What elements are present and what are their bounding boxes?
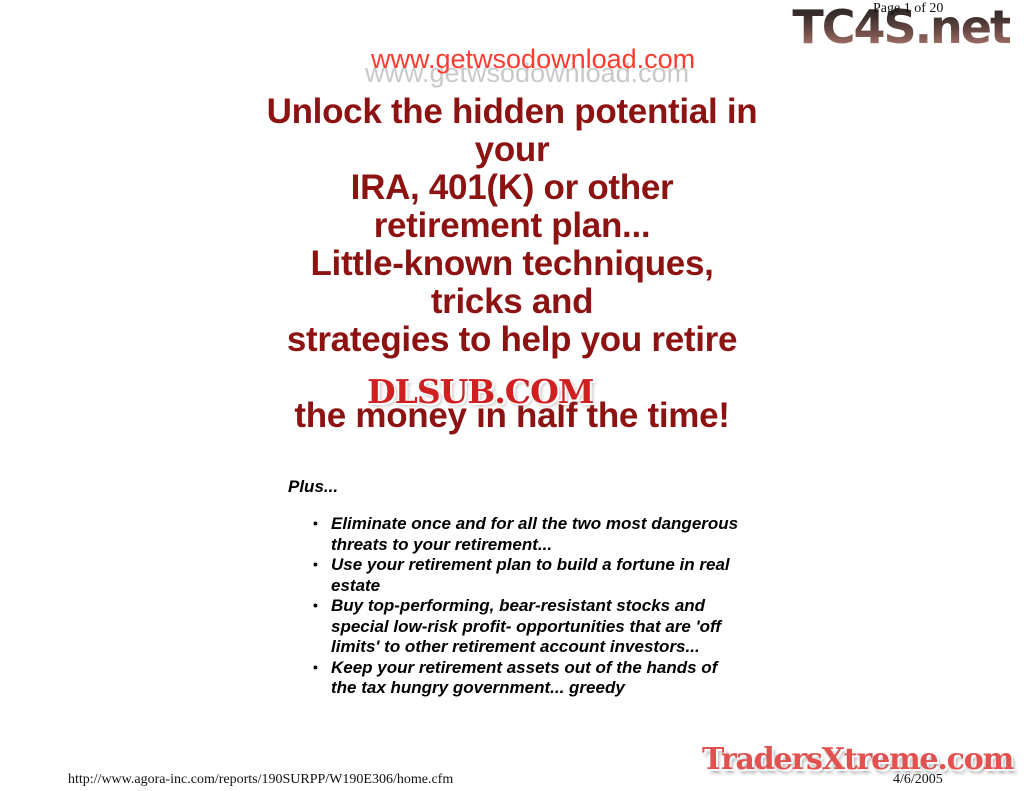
headline-line-2: your: [0, 131, 1024, 169]
dlsub-watermark-logo: DLSUB.COM: [367, 375, 593, 408]
tradersxtreme-watermark-logo: TradersXtreme.com: [702, 744, 1013, 776]
footer-date-label: 4/6/2005: [893, 772, 943, 788]
headline-line-1: Unlock the hidden potential in: [0, 93, 1024, 131]
headline-line-5: Little-known techniques,: [0, 245, 1024, 283]
list-item: Eliminate once and for all the two most …: [310, 514, 740, 555]
page-number-label: Page 1 of 20: [873, 1, 943, 17]
list-item: Keep your retirement assets out of the h…: [310, 658, 740, 699]
plus-label: Plus...: [288, 477, 338, 497]
list-item: Use your retirement plan to build a fort…: [310, 555, 740, 596]
headline-line-4: retirement plan...: [0, 207, 1024, 245]
benefits-list: Eliminate once and for all the two most …: [310, 514, 740, 699]
footer-source-url: http://www.agora-inc.com/reports/190SURP…: [68, 772, 453, 788]
headline-line-7: strategies to help you retire: [0, 321, 1024, 359]
getwso-watermark-red: www.getwsodownload.com: [371, 44, 695, 75]
headline-line-3: IRA, 401(K) or other: [0, 169, 1024, 207]
document-page: TC4S.net Page 1 of 20 www.getwsodownload…: [0, 0, 1024, 791]
list-item: Buy top-performing, bear-resistant stock…: [310, 596, 740, 658]
headline-line-6: tricks and: [0, 283, 1024, 321]
